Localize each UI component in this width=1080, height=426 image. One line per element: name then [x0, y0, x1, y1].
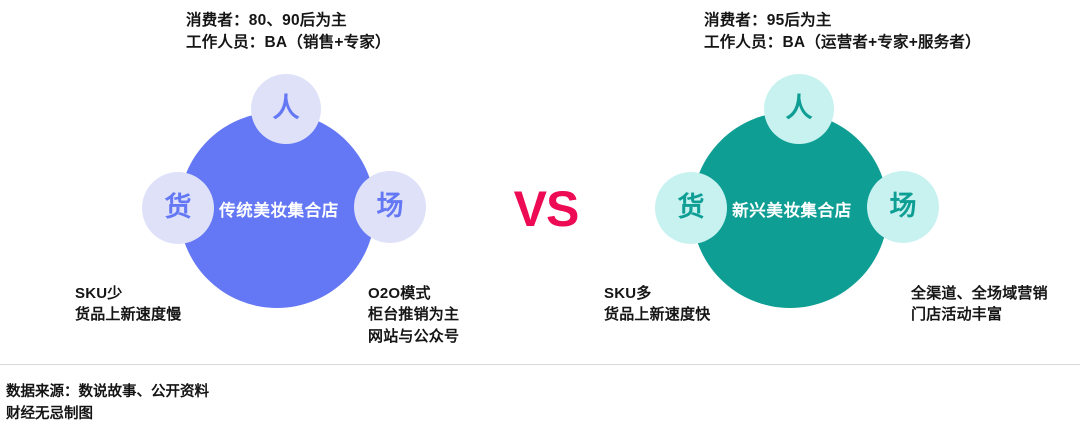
satellite-label-huo: 货 — [165, 194, 192, 221]
emerging-satellite-ren: 人 — [764, 74, 834, 144]
traditional-center-label: 传统美妆集合店 — [219, 197, 339, 221]
satellite-label-huo: 货 — [678, 194, 705, 221]
emerging-satellite-chang: 场 — [867, 171, 939, 243]
traditional-satellite-huo: 货 — [142, 172, 214, 244]
satellite-label-ren: 人 — [786, 95, 813, 122]
infographic-canvas: 消费者：80、90后为主 工作人员：BA（销售+专家） 人 货 场 传统美妆集合… — [0, 0, 1080, 426]
footer-source-line: 数据来源：数说故事、公开资料 — [6, 384, 209, 400]
emerging-top-note: 消费者：95后为主 工作人员：BA（运营者+专家+服务者） — [704, 10, 981, 54]
traditional-satellite-chang: 场 — [354, 171, 426, 243]
footer-source: 数据来源：数说故事、公开资料财经无忌制图 — [6, 381, 209, 426]
footer-credit-line: 财经无忌制图 — [6, 406, 93, 422]
emerging-bottom-left-note: SKU多 货品上新速度快 — [604, 283, 710, 326]
emerging-satellite-huo: 货 — [655, 172, 727, 244]
footer-divider — [0, 364, 1080, 365]
satellite-label-ren: 人 — [273, 95, 300, 122]
satellite-label-chang: 场 — [377, 193, 404, 220]
emerging-bottom-right-note: 全渠道、全场域营销 门店活动丰富 — [911, 283, 1048, 326]
satellite-label-chang: 场 — [890, 193, 917, 220]
emerging-center-label: 新兴美妆集合店 — [732, 197, 852, 221]
traditional-satellite-ren: 人 — [251, 74, 321, 144]
